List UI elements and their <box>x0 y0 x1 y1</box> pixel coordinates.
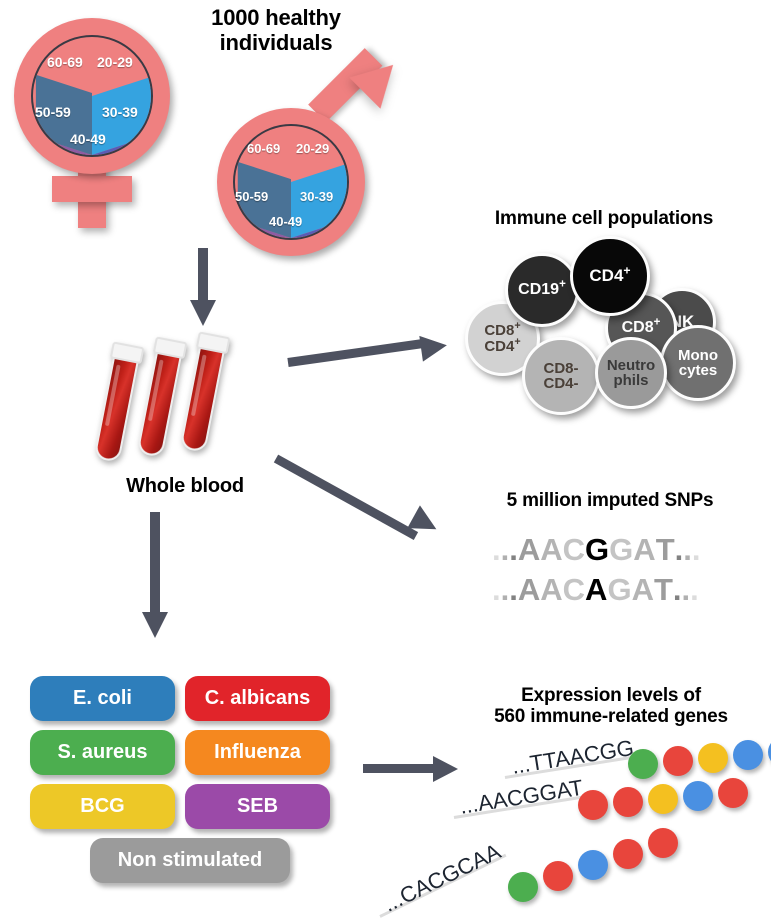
expression-bead <box>663 746 693 776</box>
immune-cell-label: CD8+ <box>622 320 661 336</box>
stimulant-label: E. coli <box>73 687 132 710</box>
snp-base: . <box>501 572 510 608</box>
snp-variant-base: A <box>585 572 607 608</box>
expression-title-line1: Expression levels of <box>452 685 770 706</box>
stimulant-label: S. aureus <box>57 741 147 764</box>
snp-base: . <box>675 532 684 568</box>
stimulant-label: Non stimulated <box>118 849 262 872</box>
arrow-shaft <box>150 512 160 616</box>
snp-base: . <box>501 532 510 568</box>
snp-variant-base: G <box>585 532 609 568</box>
snp-sequence-bottom: ...AACAGAT... <box>492 572 699 608</box>
expression-bead <box>578 850 608 880</box>
figure-canvas: 1000 healthy individuals 20-29 30-39 40-… <box>0 0 771 922</box>
immune-cell-cluster: CD8+CD4+ CD19+ CD4+ NK CD8+ CD8-CD4- Neu… <box>0 0 771 430</box>
expression-bead <box>628 749 658 779</box>
strand-sequence: ...AACGGAT <box>458 775 585 820</box>
expression-bead <box>578 790 608 820</box>
expression-title-line2: 560 immune-related genes <box>452 706 770 727</box>
snp-base: A <box>540 572 562 608</box>
snp-base: T <box>656 532 675 568</box>
snp-base: . <box>492 572 501 608</box>
expression-bead <box>733 740 763 770</box>
immune-cell-label: CD8+CD4+ <box>484 323 520 354</box>
stimulant-pill-seb[interactable]: SEB <box>185 784 330 829</box>
expression-bead <box>648 828 678 858</box>
snp-base: . <box>690 572 699 608</box>
gene-expression-strands: ...TTAACGG ...AACGGAT ...CACGCAA <box>420 740 771 922</box>
immune-cell-label: CD8-CD4- <box>543 361 578 392</box>
stimulant-pill-c-albicans[interactable]: C. albicans <box>185 676 330 721</box>
stimulant-pill-bcg[interactable]: BCG <box>30 784 175 829</box>
snp-base: A <box>518 572 540 608</box>
immune-cell-cd8n-cd4n: CD8-CD4- <box>522 337 600 415</box>
immune-cell-label: Monocytes <box>678 348 718 379</box>
snp-base: G <box>609 532 633 568</box>
arrow-shaft <box>274 455 418 540</box>
snp-base: A <box>633 532 655 568</box>
snp-base: . <box>683 532 692 568</box>
strand-sequence: ...TTAACGG <box>510 735 636 780</box>
expression-bead <box>543 861 573 891</box>
stimulant-pill-s-aureus[interactable]: S. aureus <box>30 730 175 775</box>
immune-cell-label: Neutrophils <box>607 358 655 389</box>
expression-bead <box>613 787 643 817</box>
stimulant-label: Influenza <box>214 741 301 764</box>
expression-bead <box>613 839 643 869</box>
expression-bead <box>718 778 748 808</box>
stimulant-label: C. albicans <box>205 687 311 710</box>
immune-cell-cd19p: CD19+ <box>505 253 579 327</box>
snp-base: . <box>682 572 691 608</box>
snp-base: T <box>654 572 673 608</box>
snp-base: . <box>509 572 518 608</box>
immune-cell-label: CD19+ <box>518 282 566 298</box>
expression-bead <box>648 784 678 814</box>
snp-base: A <box>540 532 562 568</box>
stimulant-pill-influenza[interactable]: Influenza <box>185 730 330 775</box>
snp-base: A <box>632 572 654 608</box>
arrow-down-blood-to-stimulants <box>140 512 170 642</box>
stimulant-pill-e-coli[interactable]: E. coli <box>30 676 175 721</box>
snps-title: 5 million imputed SNPs <box>455 490 765 511</box>
snp-base: A <box>518 532 540 568</box>
snp-base: . <box>673 572 682 608</box>
arrow-head <box>142 612 168 638</box>
snp-sequence-top: ...AACGGAT... <box>492 532 701 568</box>
strand-sequence: ...CACGCAA <box>379 839 505 918</box>
arrow-blood-to-snps <box>276 452 461 562</box>
expression-bead <box>698 743 728 773</box>
snp-base: C <box>563 572 585 608</box>
stimulant-pill-non-stimulated[interactable]: Non stimulated <box>90 838 290 883</box>
snp-base: . <box>509 532 518 568</box>
snp-base: . <box>692 532 701 568</box>
expression-title: Expression levels of 560 immune-related … <box>452 685 770 728</box>
immune-cell-monocytes: Monocytes <box>660 325 736 401</box>
snp-base: . <box>492 532 501 568</box>
immune-cell-cd4p: CD4+ <box>570 236 650 316</box>
expression-bead <box>683 781 713 811</box>
stimulant-label: SEB <box>237 795 278 818</box>
immune-cell-label: CD4+ <box>589 267 630 284</box>
stimulant-label: BCG <box>80 795 124 818</box>
snp-base: G <box>607 572 631 608</box>
whole-blood-label: Whole blood <box>85 475 285 497</box>
expression-bead <box>508 872 538 902</box>
stimulant-grid: E. coli C. albicans S. aureus Influenza … <box>30 676 350 896</box>
snp-base: C <box>563 532 585 568</box>
immune-cell-neutrophils: Neutrophils <box>595 337 667 409</box>
